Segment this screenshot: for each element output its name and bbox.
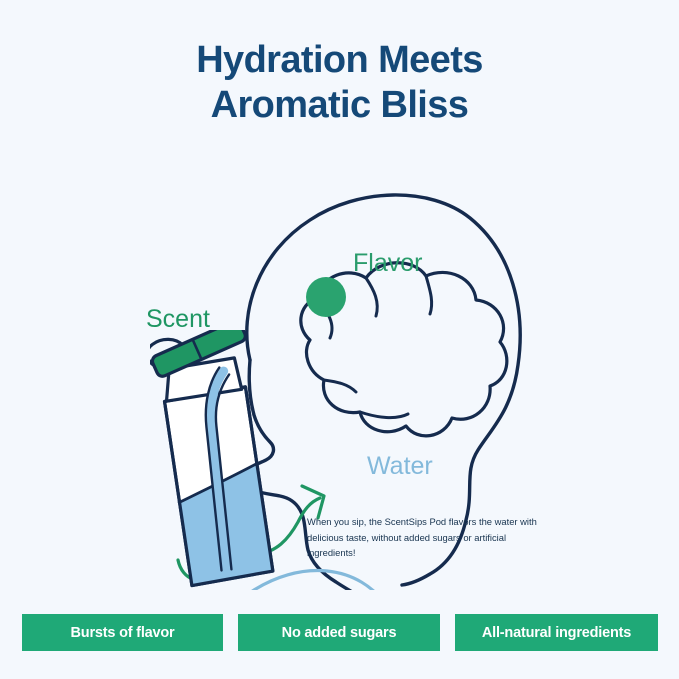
feature-badges: Bursts of flavor No added sugars All-nat… bbox=[22, 614, 658, 651]
badge-label: All-natural ingredients bbox=[482, 625, 631, 641]
label-flavor: Flavor bbox=[353, 249, 422, 278]
label-water: Water bbox=[367, 452, 433, 481]
badge-all-natural-ingredients[interactable]: All-natural ingredients bbox=[455, 614, 658, 651]
brain-fold-2 bbox=[366, 278, 377, 316]
badge-label: Bursts of flavor bbox=[71, 625, 175, 641]
title-line-2: Aromatic Bliss bbox=[0, 83, 679, 128]
caption-text: When you sip, the ScentSips Pod flavors … bbox=[307, 514, 552, 561]
brain-fold-3 bbox=[426, 276, 432, 314]
flavor-dot-marker bbox=[306, 277, 346, 317]
badge-no-added-sugars[interactable]: No added sugars bbox=[238, 614, 440, 651]
title-line-1: Hydration Meets bbox=[0, 38, 679, 83]
water-bottle-illustration bbox=[150, 330, 330, 600]
label-scent: Scent bbox=[146, 305, 210, 334]
badge-label: No added sugars bbox=[282, 625, 397, 641]
infographic-page: Hydration Meets Aromatic Bliss bbox=[0, 0, 679, 679]
badge-bursts-of-flavor[interactable]: Bursts of flavor bbox=[22, 614, 223, 651]
page-title: Hydration Meets Aromatic Bliss bbox=[0, 38, 679, 128]
brain-fold-5 bbox=[360, 412, 408, 418]
